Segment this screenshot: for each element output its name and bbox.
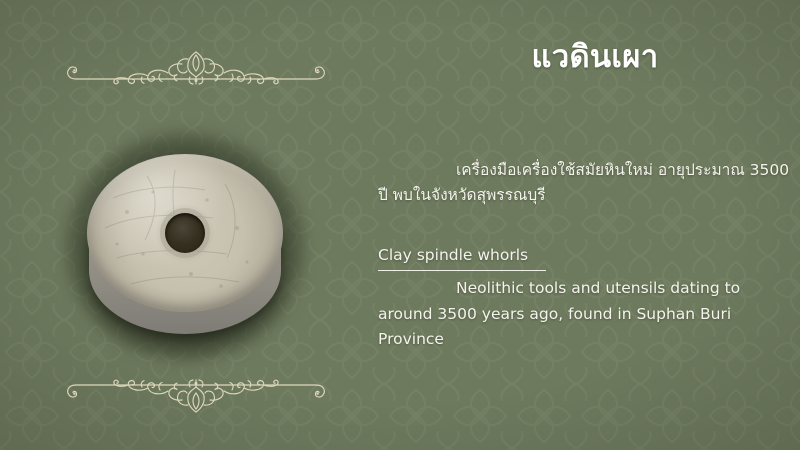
disc-top-face bbox=[87, 154, 283, 312]
artifact-photo bbox=[58, 128, 312, 364]
page-title: แวดินเผา bbox=[400, 38, 790, 77]
slide-canvas: แวดินเผา เครื่องมือเครื่องใช้สมัยหินใหม่… bbox=[0, 0, 800, 450]
disc-center-hole bbox=[165, 213, 205, 253]
thai-description: เครื่องมือเครื่องใช้สมัยหินใหม่ อายุประม… bbox=[378, 158, 792, 208]
english-description: Neolithic tools and utensils dating to a… bbox=[378, 276, 792, 353]
filigree-divider-bottom-icon bbox=[62, 366, 330, 418]
english-heading: Clay spindle whorls bbox=[378, 244, 792, 271]
filigree-divider-top-icon bbox=[62, 46, 330, 98]
english-heading-text: Clay spindle whorls bbox=[378, 244, 546, 271]
spindle-whorl-disc bbox=[85, 148, 285, 344]
